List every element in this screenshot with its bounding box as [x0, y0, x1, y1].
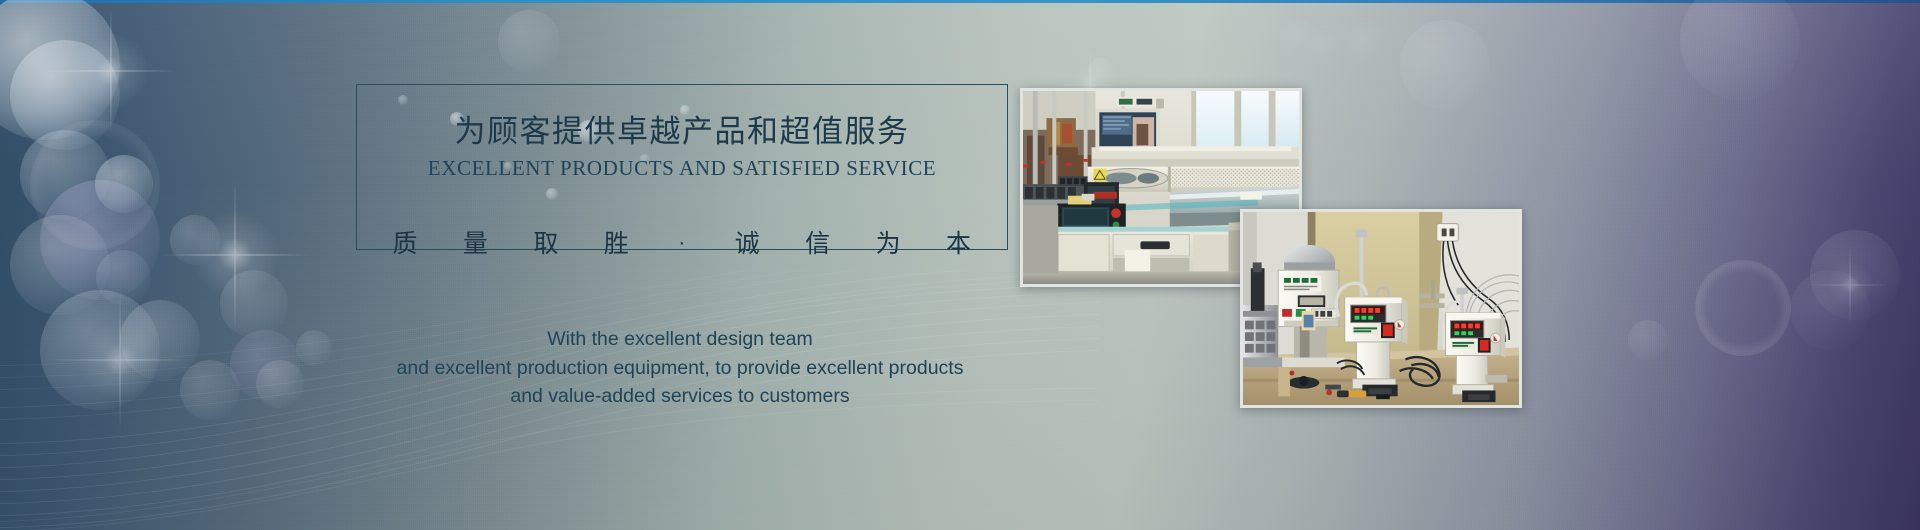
- grain-overlay: [0, 0, 1920, 530]
- slogan-char: 信: [787, 224, 849, 260]
- slogan-char: 量: [445, 224, 507, 260]
- slogan: 质 量 取 胜 · 诚 信 为 本: [356, 224, 1008, 260]
- paragraph-line: and excellent production equipment, to p…: [300, 354, 1060, 383]
- slogan-char: 质: [374, 224, 436, 260]
- slogan-char: 胜: [586, 224, 648, 260]
- slogan-char: 为: [857, 224, 919, 260]
- description-paragraph: With the excellent design team and excel…: [300, 325, 1060, 411]
- paragraph-line: With the excellent design team: [300, 325, 1060, 354]
- company-banner: 为顾客提供卓越产品和超值服务 EXCELLENT PRODUCTS AND SA…: [0, 0, 1920, 530]
- photo-terminal-crimping-machines: [1240, 209, 1522, 408]
- slogan-char: 诚: [716, 224, 778, 260]
- slogan-char: 本: [928, 224, 990, 260]
- page-title: 为顾客提供卓越产品和超值服务: [356, 106, 1008, 151]
- slogan-char: 取: [515, 224, 577, 260]
- paragraph-line: and value-added services to customers: [300, 382, 1060, 411]
- slogan-separator-dot: ·: [656, 233, 708, 255]
- subtitle: EXCELLENT PRODUCTS AND SATISFIED SERVICE: [356, 156, 1008, 181]
